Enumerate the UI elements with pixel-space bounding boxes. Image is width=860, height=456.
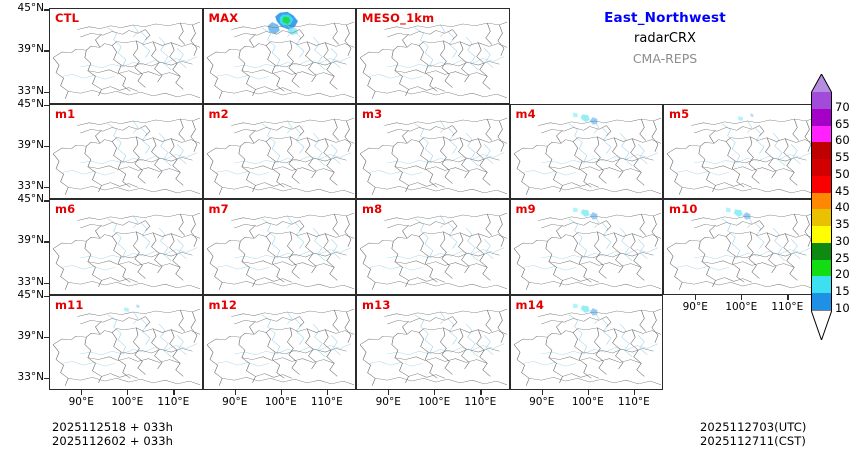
panel-label-m8: m8 [362, 202, 382, 216]
panel-label-max: MAX [209, 11, 239, 25]
xtick-label-c4-2: 110°E [757, 301, 817, 313]
panel-label-m5: m5 [669, 107, 689, 121]
province-border-layer [207, 118, 354, 195]
ytick-mark-3-0 [44, 296, 49, 297]
colorbar-tick-40: 40 [835, 202, 850, 213]
colorbar-tick-60: 60 [835, 135, 850, 146]
ytick-label-2-2: 33°N [0, 276, 44, 288]
panel-label-m11: m11 [55, 298, 84, 312]
ytick-mark-1-2 [44, 187, 49, 188]
colorbar-band-20 [811, 260, 832, 277]
footer-right-line1: 2025112703(UTC) [700, 420, 806, 434]
model-label: CMA-REPS [520, 49, 810, 69]
ytick-label-3-2: 33°N [0, 371, 44, 383]
page-title: East_Northwest [520, 8, 810, 28]
province-border-layer [360, 22, 507, 99]
ytick-label-0-2: 33°N [0, 85, 44, 97]
xtick-mark-c4-1 [741, 295, 742, 300]
colorbar-tick-25: 25 [835, 253, 850, 264]
ytick-mark-2-1 [44, 241, 49, 242]
colorbar[interactable]: 70656055504540353025201510 [811, 74, 832, 359]
map-panel-m12[interactable]: m12 [203, 295, 357, 391]
province-border-layer [53, 309, 200, 386]
province-border-layer [514, 118, 661, 195]
province-border-layer [207, 213, 354, 290]
xtick-mark-c1-0 [235, 390, 236, 395]
map-panel-m1[interactable]: m1 [49, 104, 203, 200]
xtick-mark-c2-2 [480, 390, 481, 395]
xtick-mark-c2-0 [388, 390, 389, 395]
map-panel-m11[interactable]: m11 [49, 295, 203, 391]
xtick-mark-c3-2 [634, 390, 635, 395]
colorbar-tick-20: 20 [835, 269, 850, 280]
colorbar-tick-15: 15 [835, 286, 850, 297]
colorbar-band-60 [811, 126, 832, 143]
province-border-layer [53, 22, 200, 99]
ytick-mark-0-0 [44, 9, 49, 10]
xtick-label-c3-2: 110°E [604, 396, 664, 408]
panel-label-m3: m3 [362, 107, 382, 121]
ytick-mark-2-2 [44, 283, 49, 284]
province-border-layer [360, 118, 507, 195]
panel-label-m7: m7 [209, 202, 229, 216]
ytick-label-0-1: 39°N [0, 43, 44, 55]
ytick-mark-3-1 [44, 337, 49, 338]
map-panel-m6[interactable]: m6 [49, 199, 203, 295]
colorbar-band-55 [811, 142, 832, 159]
colorbar-band-70 [811, 92, 832, 109]
ytick-label-3-0: 45°N [0, 289, 44, 301]
footer-right-line2: 2025112711(CST) [700, 434, 806, 448]
map-panel-m2[interactable]: m2 [203, 104, 357, 200]
map-panel-m7[interactable]: m7 [203, 199, 357, 295]
province-border-layer [207, 309, 354, 386]
footer-left-line2: 2025112602 + 033h [52, 434, 173, 448]
panel-label-m1: m1 [55, 107, 75, 121]
footer-left-line1: 2025112518 + 033h [52, 420, 173, 434]
map-panel-ctl[interactable]: CTL [49, 8, 203, 104]
panel-label-m6: m6 [55, 202, 75, 216]
map-panel-m10[interactable]: m10 [663, 199, 817, 295]
map-panel-m9[interactable]: m9 [510, 199, 664, 295]
panel-label-m12: m12 [209, 298, 238, 312]
panel-label-ctl: CTL [55, 11, 79, 25]
ytick-label-1-0: 45°N [0, 98, 44, 110]
radar-echo-layer [124, 304, 139, 311]
map-panel-m14[interactable]: m14 [510, 295, 664, 391]
colorbar-band-10 [811, 293, 832, 310]
province-border-layer [360, 213, 507, 290]
panel-label-m4: m4 [516, 107, 536, 121]
ytick-label-0-0: 45°N [0, 2, 44, 14]
panel-label-m9: m9 [516, 202, 536, 216]
colorbar-band-50 [811, 159, 832, 176]
ytick-label-2-1: 39°N [0, 234, 44, 246]
map-panel-m4[interactable]: m4 [510, 104, 664, 200]
colorbar-band-25 [811, 243, 832, 260]
colorbar-tick-10: 10 [835, 303, 850, 314]
xtick-label-c2-2: 110°E [450, 396, 510, 408]
panel-label-m10: m10 [669, 202, 698, 216]
map-panel-m3[interactable]: m3 [356, 104, 510, 200]
colorbar-tick-70: 70 [835, 102, 850, 113]
panel-label-meso_1km: MESO_1km [362, 11, 434, 25]
ytick-label-1-2: 33°N [0, 180, 44, 192]
title-block: East_Northwest radarCRX CMA-REPS [520, 8, 810, 69]
xtick-label-c1-2: 110°E [297, 396, 357, 408]
colorbar-band-15 [811, 276, 832, 293]
xtick-mark-c0-0 [81, 390, 82, 395]
colorbar-band-30 [811, 226, 832, 243]
ytick-mark-1-1 [44, 146, 49, 147]
colorbar-band-45 [811, 176, 832, 193]
province-border-layer [667, 118, 814, 195]
colorbar-tick-65: 65 [835, 119, 850, 130]
ytick-mark-2-0 [44, 200, 49, 201]
colorbar-tick-50: 50 [835, 169, 850, 180]
panel-label-m2: m2 [209, 107, 229, 121]
province-border-layer [53, 213, 200, 290]
xtick-mark-c4-2 [787, 295, 788, 300]
radar-echo-layer [738, 113, 753, 120]
ytick-mark-3-2 [44, 378, 49, 379]
colorbar-tick-45: 45 [835, 186, 850, 197]
ytick-mark-1-0 [44, 105, 49, 106]
xtick-mark-c3-1 [588, 390, 589, 395]
map-panel-m13[interactable]: m13 [356, 295, 510, 391]
panel-label-m13: m13 [362, 298, 391, 312]
province-border-layer [207, 22, 354, 99]
colorbar-over-arrow [811, 74, 832, 93]
province-border-layer [53, 118, 200, 195]
ytick-mark-0-1 [44, 50, 49, 51]
radar-echo-layer [267, 12, 297, 35]
province-border-layer [360, 309, 507, 386]
colorbar-band-65 [811, 109, 832, 126]
variable-label: radarCRX [520, 28, 810, 49]
colorbar-band-35 [811, 209, 832, 226]
xtick-mark-c3-0 [542, 390, 543, 395]
ytick-label-2-0: 45°N [0, 193, 44, 205]
ytick-label-3-1: 39°N [0, 330, 44, 342]
xtick-mark-c0-1 [127, 390, 128, 395]
colorbar-under-arrow [811, 310, 832, 340]
xtick-mark-c2-1 [434, 390, 435, 395]
panel-label-m14: m14 [516, 298, 545, 312]
xtick-mark-c0-2 [173, 390, 174, 395]
map-panel-m5[interactable]: m5 [663, 104, 817, 200]
xtick-mark-c1-1 [281, 390, 282, 395]
colorbar-tick-35: 35 [835, 219, 850, 230]
province-border-layer [667, 213, 814, 290]
ytick-label-1-1: 39°N [0, 139, 44, 151]
xtick-mark-c4-0 [695, 295, 696, 300]
ytick-mark-0-2 [44, 92, 49, 93]
province-border-layer [514, 213, 661, 290]
xtick-label-c0-2: 110°E [143, 396, 203, 408]
colorbar-band-40 [811, 193, 832, 210]
province-border-layer [514, 309, 661, 386]
map-panel-meso_1km[interactable]: MESO_1km [356, 8, 510, 104]
xtick-mark-c1-2 [327, 390, 328, 395]
colorbar-tick-55: 55 [835, 152, 850, 163]
map-panel-max[interactable]: MAX [203, 8, 357, 104]
colorbar-tick-30: 30 [835, 236, 850, 247]
figure-canvas: East_Northwest radarCRX CMA-REPS CTL MAX… [0, 0, 860, 456]
map-panel-m8[interactable]: m8 [356, 199, 510, 295]
